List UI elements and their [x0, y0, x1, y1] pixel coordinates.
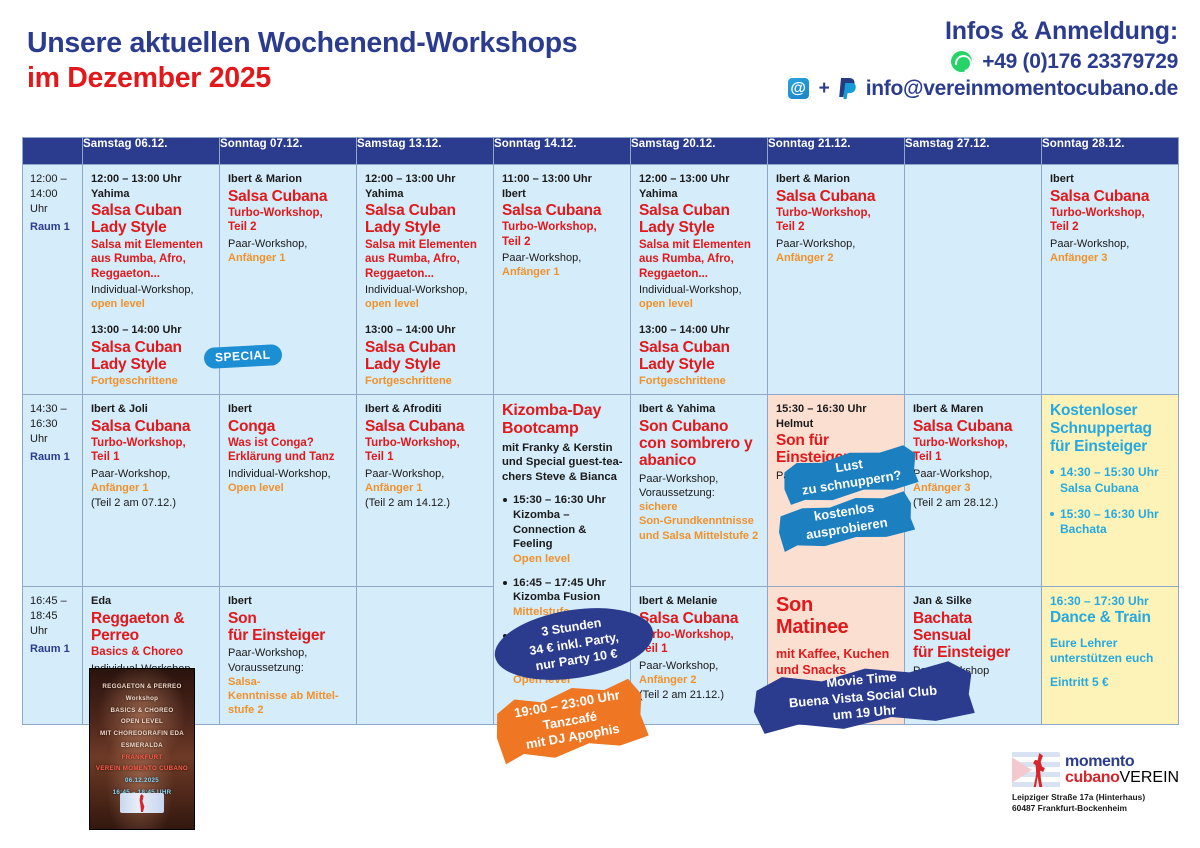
- column-header-5: Sonntag 21.12.: [768, 138, 905, 165]
- cell-r2c7[interactable]: Ibert & Maren Salsa Cubana Turbo-Worksho…: [905, 395, 1042, 587]
- event-note: Paar-Workshop,: [1050, 237, 1171, 251]
- event-teacher: Eda: [91, 594, 212, 609]
- row2-time-line2: 16:30 Uhr: [30, 417, 78, 447]
- session-name-2: Connection & Feeling: [513, 524, 586, 551]
- event-note: Paar-Workshop,: [228, 237, 349, 251]
- event-title: Salsa Cubana: [502, 202, 623, 219]
- event-level: Anfänger 1: [502, 265, 623, 279]
- event-note: Paar-Workshop,: [776, 237, 897, 251]
- cell-r1c4[interactable]: 11:00 – 13:00 Uhr Ibert Salsa Cubana Tur…: [494, 165, 631, 395]
- event-title: Son Cubanocon sombrero yabanico: [639, 418, 760, 470]
- event-block: 13:00 – 14:00 Uhr Salsa CubanLady Style …: [365, 323, 486, 388]
- event-subtitle: Salsa mit Elementenaus Rumba, Afro,Regga…: [365, 238, 486, 281]
- row3-time-line1: 16:45 –: [30, 594, 78, 609]
- paypal-icon: [838, 76, 858, 101]
- event-title: Salsa CubanLady Style: [639, 339, 760, 374]
- event-subtitle: Turbo-Workshop,Teil 2: [502, 220, 623, 249]
- event-block: Ibert & Joli Salsa Cubana Turbo-Workshop…: [91, 402, 212, 511]
- event-level: Fortgeschrittene: [365, 374, 486, 388]
- event-level: Anfänger 2: [776, 251, 897, 265]
- table-row: 12:00 – 14:00 Uhr Raum 1 12:00 – 13:00 U…: [23, 165, 1179, 395]
- event-level: Open level: [228, 481, 349, 495]
- event-time: 12:00 – 13:00 Uhr: [91, 172, 212, 187]
- event-title: Sonfür Einsteiger: [228, 610, 349, 645]
- event-time: 13:00 – 14:00 Uhr: [365, 323, 486, 338]
- event-block: 12:00 – 13:00 Uhr Yahima Salsa CubanLady…: [639, 172, 760, 311]
- event-block: 13:00 – 14:00 Uhr Salsa CubanLady Style …: [91, 323, 212, 388]
- column-header-1: Sonntag 07.12.: [220, 138, 357, 165]
- row-time-cell: 14:30 – 16:30 Uhr Raum 1: [23, 395, 83, 587]
- address-line-1: Leipziger Straße 17a (Hinterhaus): [1012, 792, 1180, 803]
- event-subtitle: Turbo-Workshop,Teil 1: [365, 436, 486, 465]
- event-teacher: Ibert: [502, 187, 623, 202]
- event-block: Ibert & Marion Salsa Cubana Turbo-Worksh…: [776, 172, 897, 265]
- dance-train-line2: unterstützen euch: [1050, 651, 1171, 666]
- event-teacher: Ibert: [228, 594, 349, 609]
- event-time: 12:00 – 13:00 Uhr: [639, 172, 760, 187]
- cell-r2c5[interactable]: Ibert & Yahima Son Cubanocon sombrero ya…: [631, 395, 768, 587]
- special-badge: SPECIAL: [204, 344, 283, 369]
- row2-time-line1: 14:30 –: [30, 402, 78, 417]
- schnuppertag-list: 14:30 – 15:30 Uhr Salsa Cubana 15:30 – 1…: [1050, 465, 1171, 537]
- cell-schnuppertag[interactable]: KostenloserSchnuppertagfür Einsteiger 14…: [1042, 395, 1179, 587]
- dance-train-title: Dance & Train: [1050, 609, 1171, 627]
- event-level: Anfänger 1: [365, 481, 486, 495]
- plus-symbol: +: [819, 78, 830, 100]
- event-title: Salsa Cubana: [1050, 188, 1171, 205]
- event-title: Salsa CubanLady Style: [639, 202, 760, 237]
- event-note: Paar-Workshop,: [502, 251, 623, 265]
- address-line-2: 60487 Frankfurt-Bockenheim: [1012, 803, 1180, 814]
- event-time: 13:00 – 14:00 Uhr: [91, 323, 212, 338]
- row1-time-line1: 12:00 –: [30, 172, 78, 187]
- event-teacher: Ibert & Marion: [776, 172, 897, 187]
- event-block: Ibert Salsa Cubana Turbo-Workshop,Teil 2…: [1050, 172, 1171, 265]
- schnuppertag-title: KostenloserSchnuppertagfür Einsteiger: [1050, 402, 1171, 456]
- session-time: 15:30 – 16:30 Uhr: [513, 494, 606, 506]
- whatsapp-icon: [949, 49, 974, 74]
- event-level: Anfänger 2: [639, 673, 760, 687]
- event-subtitle: Turbo-Workshop,Teil 1: [91, 436, 212, 465]
- event-level: Anfänger 1: [228, 251, 349, 265]
- session-level: Open level: [513, 552, 623, 567]
- event-note: Paar-Workshop,: [639, 659, 760, 673]
- flyer-line-6: FRANKFURT: [90, 752, 194, 764]
- table-header-row: Samstag 06.12. Sonntag 07.12. Samstag 13…: [23, 138, 1179, 165]
- event-teacher: Helmut: [776, 417, 897, 432]
- event-level: Anfänger 3: [913, 481, 1034, 495]
- price-badge-text: 3 Stunden34 € inkl. Party,nur Party 10 €: [526, 613, 623, 676]
- event-part-note: (Teil 2 am 28.12.): [913, 496, 1034, 510]
- event-time: 15:30 – 16:30 Uhr: [776, 402, 897, 417]
- event-title: Conga: [228, 418, 349, 435]
- event-teacher: Ibert & Melanie: [639, 594, 760, 609]
- flyer-line-7: VEREIN MOMENTO CUBANO: [90, 763, 194, 775]
- event-note: Paar-Workshop,: [913, 467, 1034, 481]
- event-title: Salsa CubanLady Style: [365, 339, 486, 374]
- event-time: 13:00 – 14:00 Uhr: [639, 323, 760, 338]
- column-header-0: Samstag 06.12.: [83, 138, 220, 165]
- event-title: Reggaeton &Perreo: [91, 610, 212, 645]
- dance-train-time: 16:30 – 17:30 Uhr: [1050, 594, 1171, 609]
- cell-r1c8[interactable]: Ibert Salsa Cubana Turbo-Workshop,Teil 2…: [1042, 165, 1179, 395]
- event-teacher: Ibert & Maren: [913, 402, 1034, 417]
- event-title: Salsa CubanLady Style: [365, 202, 486, 237]
- cell-r2c1[interactable]: Ibert & Joli Salsa Cubana Turbo-Workshop…: [83, 395, 220, 587]
- event-block: Ibert Sonfür Einsteiger Paar-Workshop,Vo…: [228, 594, 349, 718]
- event-block: Ibert & Afroditi Salsa Cubana Turbo-Work…: [365, 402, 486, 511]
- event-block: 12:00 – 13:00 Uhr Yahima Salsa CubanLady…: [365, 172, 486, 311]
- logo-row: momento cubanoVEREIN: [1012, 752, 1180, 788]
- event-note: Individual-Workshop,: [91, 283, 212, 297]
- table-row: 14:30 – 16:30 Uhr Raum 1 Ibert & Joli Sa…: [23, 395, 1179, 587]
- event-note: Individual-Workshop,: [228, 467, 349, 481]
- event-block: Ibert & Yahima Son Cubanocon sombrero ya…: [639, 402, 760, 543]
- cell-r3c2[interactable]: Ibert Sonfür Einsteiger Paar-Workshop,Vo…: [220, 587, 357, 725]
- cell-r1c7-empty: [905, 165, 1042, 395]
- event-subtitle: Turbo-Workshop,Teil 2: [1050, 206, 1171, 235]
- page-title: Unsere aktuellen Wochenend-Workshops im …: [27, 26, 577, 96]
- event-teacher: Ibert & Joli: [91, 402, 212, 417]
- event-teacher: Yahima: [91, 187, 212, 202]
- contact-heading: Infos & Anmeldung:: [783, 16, 1178, 46]
- poster-page: Unsere aktuellen Wochenend-Workshops im …: [0, 0, 1200, 848]
- event-subtitle: Turbo-Workshop,Teil 2: [228, 206, 349, 235]
- event-title: Salsa Cubana: [776, 188, 897, 205]
- row1-time-line2: 14:00 Uhr: [30, 187, 78, 217]
- row3-time-line2: 18:45 Uhr: [30, 609, 78, 639]
- row1-room: Raum 1: [30, 220, 78, 235]
- event-subtitle: Basics & Choreo: [91, 645, 212, 659]
- session-name-1: Kizomba Fusion: [513, 591, 600, 603]
- flyer-line-1: REGGAETON & PERREO: [90, 681, 194, 693]
- kizomba-title: Kizomba-DayBootcamp: [502, 402, 623, 438]
- flyer-line-3: BASICS & CHOREO: [90, 705, 194, 717]
- event-subtitle: Turbo-Workshop,Teil 2: [776, 206, 897, 235]
- event-prerequisite: Salsa-Kenntnisse ab Mittel-stufe 2: [228, 675, 349, 718]
- column-header-4: Samstag 20.12.: [631, 138, 768, 165]
- session-time: 14:30 – 15:30 Uhr: [1060, 465, 1159, 479]
- event-title: Salsa Cubana: [913, 418, 1034, 435]
- footer-logo-block: momento cubanoVEREIN Leipziger Straße 17…: [1012, 752, 1180, 815]
- event-note: Individual-Workshop,: [639, 283, 760, 297]
- event-subtitle: Salsa mit Elementenaus Rumba, Afro,Regga…: [91, 238, 212, 281]
- flyer-line-2: Workshop: [90, 693, 194, 705]
- event-note: Individual-Workshop,: [365, 283, 486, 297]
- email-address: info@vereinmomentocubano.de: [866, 77, 1178, 101]
- event-title: Bachata Sensualfür Einsteiger: [913, 610, 1034, 662]
- row3-room: Raum 1: [30, 642, 78, 657]
- event-level: open level: [639, 297, 760, 311]
- event-level: Anfänger 3: [1050, 251, 1171, 265]
- flyer-line-4: OPEN LEVEL: [90, 716, 194, 728]
- logo-word-cubano: cubano: [1065, 769, 1120, 786]
- title-line-1: Unsere aktuellen Wochenend-Workshops: [27, 26, 577, 61]
- reggaeton-flyer-image: REGGAETON & PERREO Workshop BASICS & CHO…: [89, 668, 195, 830]
- event-teacher: Yahima: [639, 187, 760, 202]
- event-block: Ibert & Maren Salsa Cubana Turbo-Worksho…: [913, 402, 1034, 511]
- flyer-line-8: 06.12.2025: [90, 775, 194, 787]
- event-block: Ibert Conga Was ist Conga?Erklärung und …: [228, 402, 349, 495]
- event-title: Salsa CubanLady Style: [91, 202, 212, 237]
- event-subtitle: Was ist Conga?Erklärung und Tanz: [228, 436, 349, 465]
- event-note: Paar-Workshop,: [91, 467, 212, 481]
- event-title: Salsa Cubana: [365, 418, 486, 435]
- event-level: open level: [365, 297, 486, 311]
- dance-train-price: Eintritt 5 €: [1050, 675, 1171, 690]
- cuban-flag-dancer-icon: [1012, 752, 1060, 788]
- cell-r2c2[interactable]: Ibert Conga Was ist Conga?Erklärung und …: [220, 395, 357, 587]
- session-name: Salsa Cubana: [1060, 481, 1139, 495]
- contact-block: Infos & Anmeldung: +49 (0)176 23379729 @…: [783, 16, 1178, 101]
- cell-r1c1[interactable]: 12:00 – 13:00 Uhr Yahima Salsa CubanLady…: [83, 165, 220, 395]
- kizomba-subtitle: mit Franky & Kerstinund Special guest-te…: [502, 441, 623, 484]
- row2-room: Raum 1: [30, 450, 78, 465]
- event-level: Fortgeschrittene: [91, 374, 212, 388]
- event-note: Paar-Workshop,: [365, 467, 486, 481]
- list-item: 15:30 – 16:30 Uhr Kizomba – Connection &…: [502, 493, 623, 566]
- cell-r1c5[interactable]: 12:00 – 13:00 Uhr Yahima Salsa CubanLady…: [631, 165, 768, 395]
- contact-phone-row[interactable]: +49 (0)176 23379729: [783, 49, 1178, 74]
- event-part-note: (Teil 2 am 07.12.): [91, 496, 212, 510]
- logo-word-verein: VEREIN: [1120, 769, 1180, 786]
- event-prerequisite: sichereSon-Grundkenntnisseund Salsa Mitt…: [639, 500, 760, 543]
- event-level: Anfänger 1: [91, 481, 212, 495]
- event-teacher: Ibert & Afroditi: [365, 402, 486, 417]
- event-block: Ibert & Melanie Salsa Cubana Turbo-Works…: [639, 594, 760, 703]
- event-teacher: Ibert & Marion: [228, 172, 349, 187]
- event-subtitle: Salsa mit Elementenaus Rumba, Afro,Regga…: [639, 238, 760, 281]
- event-note: Paar-Workshop,Voraussetzung:: [228, 646, 349, 675]
- event-level: Fortgeschrittene: [639, 374, 760, 388]
- event-teacher: Ibert & Yahima: [639, 402, 760, 417]
- column-header-7: Sonntag 28.12.: [1042, 138, 1179, 165]
- session-name-1: Kizomba –: [513, 509, 570, 521]
- cell-dance-and-train[interactable]: 16:30 – 17:30 Uhr Dance & Train Eure Leh…: [1042, 587, 1179, 725]
- cell-r3c5[interactable]: Ibert & Melanie Salsa Cubana Turbo-Works…: [631, 587, 768, 725]
- contact-email-row[interactable]: @ + info@vereinmomentocubano.de: [783, 76, 1178, 101]
- event-title: Salsa Cubana: [91, 418, 212, 435]
- logo-word-momento: momento: [1065, 753, 1134, 770]
- session-name: Bachata: [1060, 522, 1107, 536]
- dance-train-line1: Eure Lehrer: [1050, 636, 1171, 651]
- event-teacher: Ibert: [228, 402, 349, 417]
- event-teacher: Ibert: [1050, 172, 1171, 187]
- event-block: 13:00 – 14:00 Uhr Salsa CubanLady Style …: [639, 323, 760, 388]
- session-time: 16:45 – 17:45 Uhr: [513, 577, 606, 589]
- event-note: Paar-Workshop,Voraussetzung:: [639, 472, 760, 501]
- at-sign-icon: @: [786, 76, 811, 101]
- column-header-3: Sonntag 14.12.: [494, 138, 631, 165]
- list-item: 14:30 – 15:30 Uhr Salsa Cubana: [1050, 465, 1171, 496]
- event-block: Ibert & Marion Salsa Cubana Turbo-Worksh…: [228, 172, 349, 265]
- event-teacher: Yahima: [365, 187, 486, 202]
- flyer-text: REGGAETON & PERREO Workshop BASICS & CHO…: [90, 681, 194, 799]
- session-time: 15:30 – 16:30 Uhr: [1060, 507, 1159, 521]
- cell-r1c6[interactable]: Ibert & Marion Salsa Cubana Turbo-Worksh…: [768, 165, 905, 395]
- footer-address: Leipziger Straße 17a (Hinterhaus) 60487 …: [1012, 792, 1180, 815]
- cell-r3c3-empty: [357, 587, 494, 725]
- column-header-2: Samstag 13.12.: [357, 138, 494, 165]
- event-title: Salsa Cubana: [639, 610, 760, 627]
- event-level: open level: [91, 297, 212, 311]
- list-item: 15:30 – 16:30 Uhr Bachata: [1050, 507, 1171, 538]
- event-teacher: Jan & Silke: [913, 594, 1034, 609]
- row-time-cell: 12:00 – 14:00 Uhr Raum 1: [23, 165, 83, 395]
- flyer-logo-icon: [120, 793, 164, 813]
- cell-r2c3[interactable]: Ibert & Afroditi Salsa Cubana Turbo-Work…: [357, 395, 494, 587]
- cell-r1c3[interactable]: 12:00 – 13:00 Uhr Yahima Salsa CubanLady…: [357, 165, 494, 395]
- column-header-6: Samstag 27.12.: [905, 138, 1042, 165]
- logo-wordmark: momento cubanoVEREIN: [1065, 754, 1179, 787]
- event-title: Salsa Cubana: [228, 188, 349, 205]
- flyer-line-5: MIT CHOREOGRAFIN EDA ESMERALDA: [90, 728, 194, 752]
- event-block: Jan & Silke Bachata Sensualfür Einsteige…: [913, 594, 1034, 678]
- event-time: 12:00 – 13:00 Uhr: [365, 172, 486, 187]
- event-time: 11:00 – 13:00 Uhr: [502, 172, 623, 187]
- matinee-title: SonMatinee: [776, 594, 897, 638]
- corner-cell: [23, 138, 83, 165]
- event-part-note: (Teil 2 am 14.12.): [365, 496, 486, 510]
- phone-number: +49 (0)176 23379729: [982, 50, 1178, 74]
- event-subtitle: Turbo-Workshop,Teil 1: [913, 436, 1034, 465]
- event-part-note: (Teil 2 am 21.12.): [639, 688, 760, 702]
- event-block: 11:00 – 13:00 Uhr Ibert Salsa Cubana Tur…: [502, 172, 623, 280]
- title-line-2: im Dezember 2025: [27, 61, 577, 96]
- event-block: 12:00 – 13:00 Uhr Yahima Salsa CubanLady…: [91, 172, 212, 311]
- event-title: Salsa CubanLady Style: [91, 339, 212, 374]
- row-time-cell: 16:45 – 18:45 Uhr Raum 1: [23, 587, 83, 725]
- event-subtitle: Turbo-Workshop,Teil 1: [639, 628, 760, 657]
